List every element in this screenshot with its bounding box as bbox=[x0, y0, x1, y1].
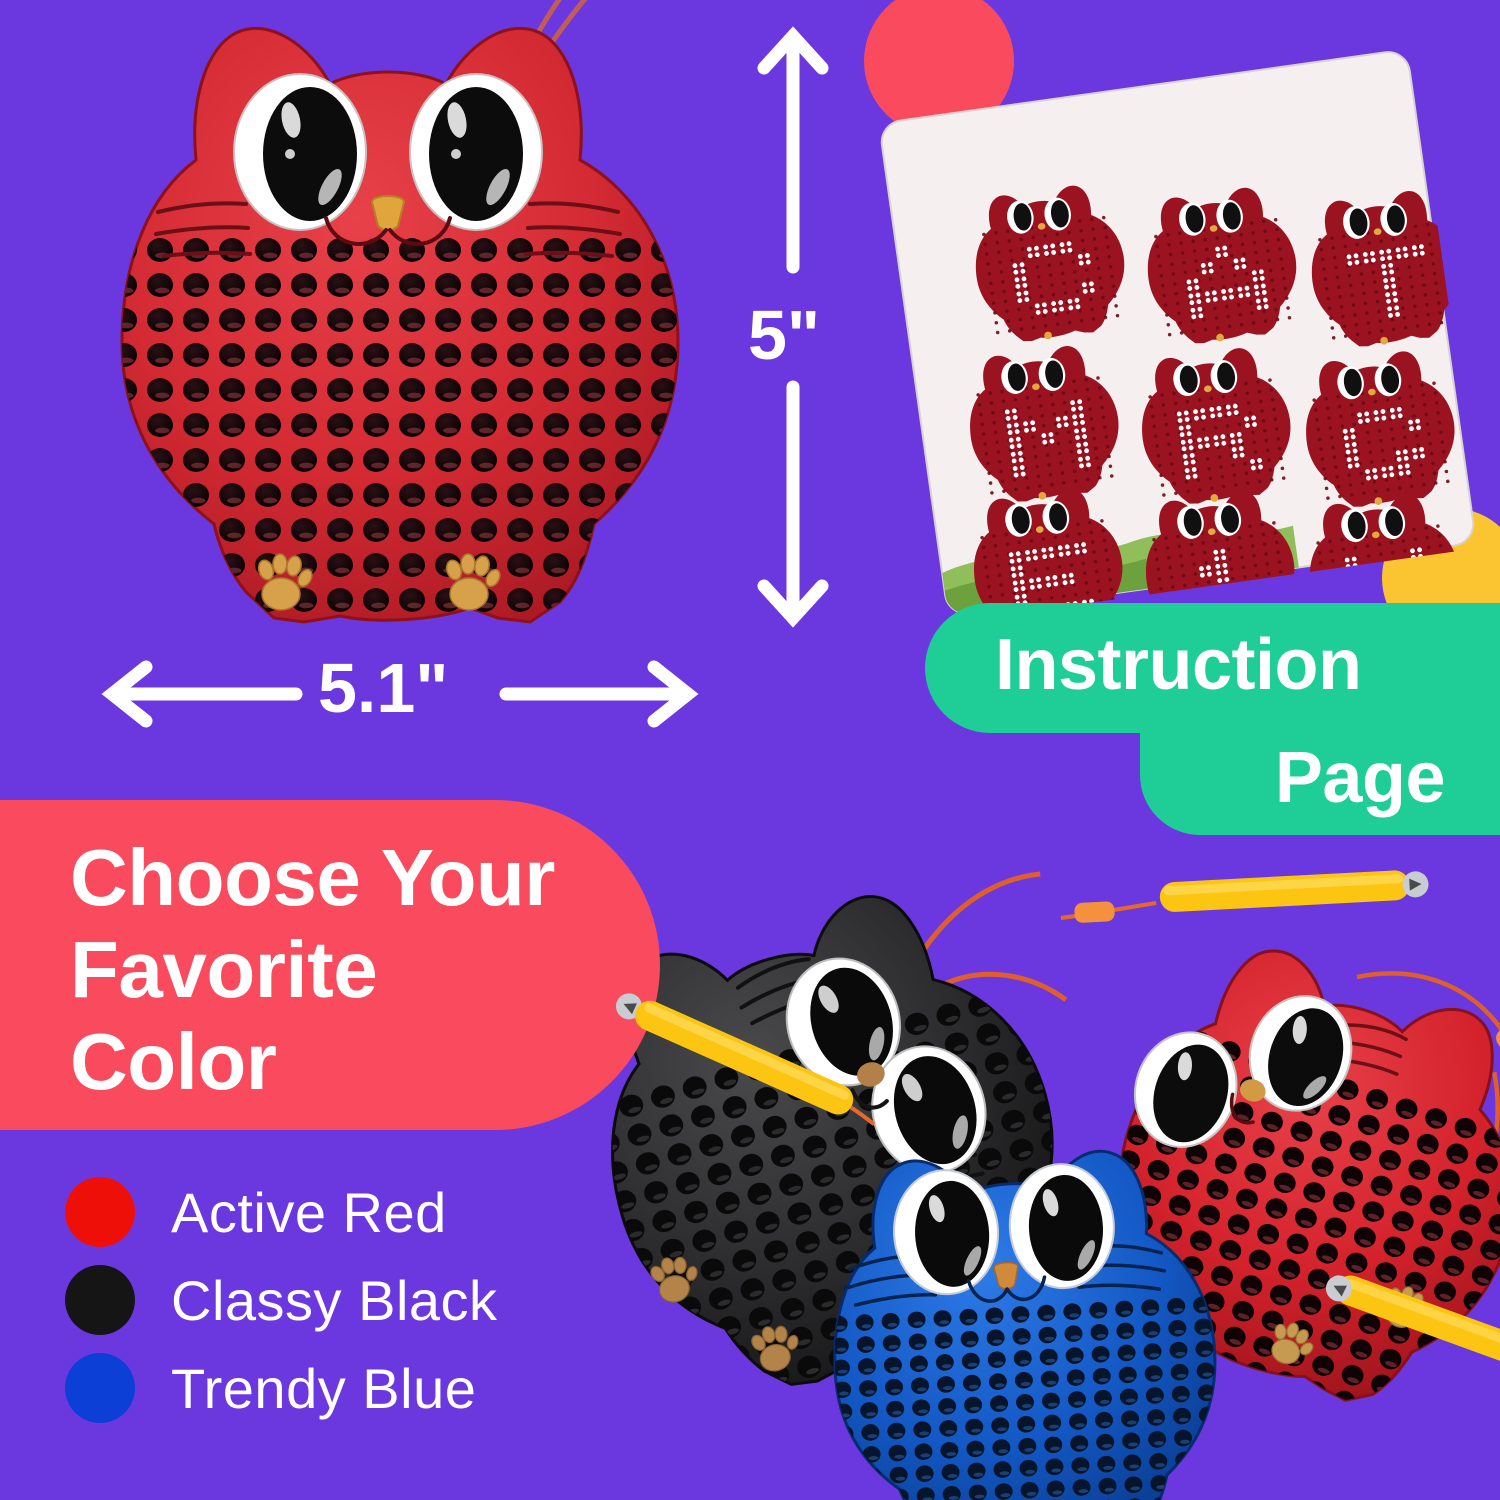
peg-hole bbox=[579, 343, 605, 367]
peg-hole bbox=[183, 413, 209, 437]
peg-hole bbox=[399, 518, 425, 542]
choose-color-line3: Color bbox=[70, 1016, 555, 1108]
figure-texture-dot bbox=[1371, 583, 1375, 587]
peg-hole bbox=[579, 623, 605, 647]
peg-hole-highlight bbox=[659, 603, 673, 609]
peg-hole bbox=[435, 518, 461, 542]
figure-texture-dot bbox=[1282, 590, 1286, 594]
peg-hole bbox=[579, 413, 605, 437]
peg-hole bbox=[255, 238, 281, 262]
peg-hole-highlight bbox=[227, 463, 241, 469]
peg-hole-highlight bbox=[1182, 1483, 1192, 1487]
peg-hole bbox=[507, 413, 533, 437]
peg-hole-highlight bbox=[155, 393, 169, 399]
peg-hole-highlight bbox=[623, 638, 637, 644]
peg-hole-highlight bbox=[515, 603, 529, 609]
peg-hole bbox=[399, 553, 425, 577]
peg-hole bbox=[399, 343, 425, 367]
peg-hole-highlight bbox=[623, 428, 637, 434]
peg-hole-highlight bbox=[263, 358, 277, 364]
peg-hole-highlight bbox=[227, 393, 241, 399]
peg-hole-highlight bbox=[1220, 1363, 1233, 1371]
figure-texture-dot bbox=[1270, 591, 1274, 595]
peg-hole-highlight bbox=[1338, 1402, 1351, 1410]
peg-hole bbox=[615, 413, 641, 437]
peg-hole-highlight bbox=[299, 253, 313, 259]
peg-hole bbox=[579, 308, 605, 332]
peg-hole bbox=[147, 238, 173, 262]
peg-hole-highlight bbox=[587, 358, 601, 364]
peg-hole bbox=[471, 308, 497, 332]
figure-texture-dot bbox=[1323, 590, 1327, 594]
peg-hole bbox=[1390, 1407, 1417, 1433]
peg-hole bbox=[291, 483, 317, 507]
peg-hole bbox=[683, 1322, 712, 1350]
peg-hole bbox=[837, 1469, 856, 1486]
peg-hole-highlight bbox=[515, 288, 529, 294]
peg-hole bbox=[399, 308, 425, 332]
figure-texture-dot bbox=[1445, 270, 1449, 274]
peg-hole-highlight bbox=[551, 358, 565, 364]
swatch-active-red bbox=[65, 1177, 135, 1247]
figure-texture-dot bbox=[1208, 590, 1212, 594]
peg-hole bbox=[471, 483, 497, 507]
figure-texture-dot bbox=[1232, 587, 1236, 591]
peg-hole bbox=[363, 623, 389, 647]
peg-hole bbox=[1428, 1391, 1455, 1417]
peg-hole-highlight bbox=[155, 498, 169, 504]
peg-hole bbox=[1177, 1495, 1196, 1500]
peg-hole-highlight bbox=[587, 568, 601, 574]
peg-hole-highlight bbox=[479, 288, 493, 294]
peg-hole-highlight bbox=[335, 253, 349, 259]
peg-hole bbox=[579, 273, 605, 297]
figure-texture-dot bbox=[1322, 580, 1326, 584]
peg-hole bbox=[327, 378, 353, 402]
peg-hole-highlight bbox=[191, 603, 205, 609]
peg-hole bbox=[836, 1447, 855, 1464]
peg-hole bbox=[471, 413, 497, 437]
peg-hole-highlight bbox=[299, 428, 313, 434]
peg-hole-highlight bbox=[299, 288, 313, 294]
peg-hole-highlight bbox=[443, 323, 457, 329]
peg-hole bbox=[111, 238, 137, 262]
figure-texture-dot bbox=[1160, 597, 1164, 601]
swatch-classy-black bbox=[65, 1265, 135, 1335]
peg-hole-highlight bbox=[335, 393, 349, 399]
peg-hole-highlight bbox=[719, 1423, 733, 1432]
peg-hole bbox=[651, 343, 677, 367]
instruction-page-card bbox=[872, 43, 1483, 624]
lacing-needle-top bbox=[1059, 858, 1442, 938]
peg-hole-highlight bbox=[299, 463, 313, 469]
choose-color-badge: Choose Your Favorite Color bbox=[0, 800, 660, 1130]
instruction-badge-line2: Page bbox=[925, 722, 1465, 835]
peg-hole bbox=[579, 378, 605, 402]
peg-hole-highlight bbox=[263, 393, 277, 399]
peg-hole-highlight bbox=[155, 568, 169, 574]
peg-hole-highlight bbox=[659, 463, 673, 469]
figure-texture-dot bbox=[1336, 598, 1340, 602]
peg-hole-highlight bbox=[515, 638, 529, 644]
peg-hole-highlight bbox=[710, 1394, 724, 1403]
peg-hole-highlight bbox=[407, 638, 421, 644]
peg-hole bbox=[507, 483, 533, 507]
peg-hole bbox=[183, 623, 209, 647]
peg-hole-highlight bbox=[515, 358, 529, 364]
peg-hole bbox=[435, 413, 461, 437]
cord-aglet bbox=[1074, 901, 1115, 923]
figure-pattern-dot bbox=[1226, 591, 1231, 596]
peg-hole-highlight bbox=[479, 498, 493, 504]
peg-hole-highlight bbox=[659, 393, 673, 399]
peg-hole bbox=[327, 308, 353, 332]
peg-hole-highlight bbox=[407, 323, 421, 329]
peg-hole bbox=[1200, 1428, 1219, 1445]
peg-hole bbox=[838, 1491, 857, 1500]
legend-row-classy-black[interactable]: Classy Black bbox=[65, 1256, 625, 1344]
figure-texture-dot bbox=[1344, 567, 1348, 571]
peg-hole-highlight bbox=[335, 533, 349, 539]
peg-hole bbox=[507, 238, 533, 262]
peg-hole bbox=[435, 273, 461, 297]
peg-hole-highlight bbox=[371, 358, 385, 364]
peg-hole bbox=[291, 238, 317, 262]
peg-hole-highlight bbox=[191, 288, 205, 294]
peg-hole bbox=[651, 553, 677, 577]
peg-hole bbox=[615, 483, 641, 507]
peg-hole-highlight bbox=[1207, 1460, 1217, 1464]
peg-hole-highlight bbox=[443, 393, 457, 399]
peg-hole bbox=[255, 518, 281, 542]
peg-hole-highlight bbox=[335, 428, 349, 434]
peg-hole-highlight bbox=[659, 323, 673, 329]
choose-color-line1: Choose Your bbox=[70, 832, 555, 924]
peg-hole-highlight bbox=[227, 498, 241, 504]
peg-hole-highlight bbox=[479, 638, 493, 644]
peg-hole bbox=[147, 518, 173, 542]
figure-texture-dot bbox=[1348, 596, 1352, 600]
peg-hole bbox=[659, 1360, 688, 1388]
peg-hole-highlight bbox=[623, 358, 637, 364]
peg-hole-highlight bbox=[155, 533, 169, 539]
peg-hole bbox=[651, 308, 677, 332]
peg-hole bbox=[363, 413, 389, 437]
peg-hole-highlight bbox=[1397, 1421, 1410, 1429]
peg-hole-highlight bbox=[551, 428, 565, 434]
peg-hole-highlight bbox=[659, 498, 673, 504]
peg-hole-highlight bbox=[371, 568, 385, 574]
figure-texture-dot bbox=[1234, 596, 1238, 600]
peg-hole-highlight bbox=[515, 323, 529, 329]
peg-hole bbox=[255, 343, 281, 367]
height-dimension-arrow bbox=[738, 22, 848, 632]
peg-hole-highlight bbox=[371, 533, 385, 539]
peg-hole bbox=[399, 413, 425, 437]
peg-hole bbox=[731, 1371, 760, 1399]
peg-hole-highlight bbox=[299, 393, 313, 399]
peg-hole bbox=[147, 343, 173, 367]
peg-hole-highlight bbox=[191, 533, 205, 539]
peg-hole-highlight bbox=[155, 638, 169, 644]
peg-hole-highlight bbox=[227, 638, 241, 644]
peg-hole-highlight bbox=[679, 1403, 693, 1412]
peg-hole bbox=[291, 343, 317, 367]
peg-hole-highlight bbox=[1008, 996, 1022, 1005]
color-legend: Active Red Classy Black Trendy Blue bbox=[65, 1168, 625, 1432]
peg-hole-highlight bbox=[335, 603, 349, 609]
peg-hole bbox=[579, 238, 605, 262]
peg-hole bbox=[147, 413, 173, 437]
peg-hole bbox=[219, 273, 245, 297]
peg-hole bbox=[111, 623, 137, 647]
peg-hole bbox=[543, 448, 569, 472]
peg-hole bbox=[363, 448, 389, 472]
legend-row-active-red[interactable]: Active Red bbox=[65, 1168, 625, 1256]
peg-hole bbox=[585, 1101, 614, 1129]
peg-hole bbox=[435, 623, 461, 647]
peg-hole bbox=[1201, 1450, 1220, 1467]
peg-hole-highlight bbox=[371, 428, 385, 434]
peg-hole bbox=[111, 483, 137, 507]
peg-hole-highlight bbox=[479, 393, 493, 399]
peg-hole-highlight bbox=[335, 358, 349, 364]
peg-hole-highlight bbox=[371, 638, 385, 644]
peg-hole-highlight bbox=[587, 498, 601, 504]
peg-hole bbox=[997, 983, 1026, 1011]
peg-hole-highlight bbox=[1181, 1461, 1191, 1465]
figure-texture-dot bbox=[1441, 241, 1445, 245]
figure-pattern-dot bbox=[1374, 596, 1379, 601]
peg-hole-highlight bbox=[119, 533, 133, 539]
peg-hole bbox=[255, 273, 281, 297]
peg-hole bbox=[1360, 1397, 1387, 1423]
peg-hole bbox=[147, 483, 173, 507]
figure-texture-dot bbox=[1172, 595, 1176, 599]
peg-hole-highlight bbox=[299, 323, 313, 329]
figure-pattern-dot bbox=[1363, 569, 1368, 574]
figure-texture-dot bbox=[1359, 585, 1363, 589]
figure-texture-dot bbox=[1443, 260, 1447, 264]
legend-label-trendy-blue: Trendy Blue bbox=[171, 1356, 476, 1421]
peg-hole bbox=[643, 1303, 672, 1331]
peg-hole bbox=[255, 448, 281, 472]
swatch-trendy-blue bbox=[65, 1353, 135, 1423]
figure-pattern-dot bbox=[1370, 568, 1375, 573]
peg-hole bbox=[543, 588, 569, 612]
peg-hole bbox=[183, 518, 209, 542]
figure-texture-dot bbox=[1334, 579, 1338, 583]
peg-hole bbox=[363, 273, 389, 297]
peg-hole bbox=[691, 1351, 720, 1379]
peg-hole-highlight bbox=[227, 428, 241, 434]
peg-hole bbox=[615, 378, 641, 402]
peg-hole bbox=[147, 553, 173, 577]
peg-hole bbox=[615, 238, 641, 262]
peg-hole-highlight bbox=[551, 323, 565, 329]
peg-hole bbox=[471, 273, 497, 297]
peg-hole-highlight bbox=[587, 638, 601, 644]
peg-hole bbox=[615, 588, 641, 612]
peg-hole-highlight bbox=[623, 253, 637, 259]
peg-hole-highlight bbox=[443, 498, 457, 504]
peg-hole bbox=[507, 273, 533, 297]
peg-hole-highlight bbox=[335, 498, 349, 504]
peg-hole bbox=[615, 553, 641, 577]
peg-hole bbox=[399, 448, 425, 472]
eye-left bbox=[234, 74, 366, 230]
peg-hole bbox=[399, 378, 425, 402]
peg-hole-highlight bbox=[191, 358, 205, 364]
peg-hole-highlight bbox=[407, 428, 421, 434]
peg-hole-highlight bbox=[623, 323, 637, 329]
figure-texture-dot bbox=[1368, 564, 1372, 568]
peg-hole-highlight bbox=[191, 568, 205, 574]
peg-hole-highlight bbox=[1414, 1370, 1427, 1378]
peg-hole bbox=[363, 378, 389, 402]
peg-hole-highlight bbox=[869, 1478, 879, 1482]
needle-cord bbox=[849, 1107, 877, 1124]
peg-hole-highlight bbox=[155, 428, 169, 434]
peg-hole bbox=[327, 588, 353, 612]
peg-hole-highlight bbox=[551, 638, 565, 644]
legend-row-trendy-blue[interactable]: Trendy Blue bbox=[65, 1344, 625, 1432]
choose-color-line2: Favorite bbox=[70, 924, 555, 1016]
figure-texture-dot bbox=[1372, 593, 1376, 597]
peg-hole-highlight bbox=[750, 1414, 764, 1423]
product-feature-graphic: 5" 5.1" Instruction bbox=[0, 0, 1500, 1500]
peg-hole bbox=[651, 483, 677, 507]
peg-hole bbox=[291, 308, 317, 332]
peg-hole-highlight bbox=[551, 568, 565, 574]
peg-hole-highlight bbox=[1309, 1392, 1322, 1400]
peg-hole-highlight bbox=[623, 288, 637, 294]
peg-hole-highlight bbox=[841, 1435, 851, 1439]
peg-hole bbox=[183, 378, 209, 402]
peg-hole bbox=[363, 588, 389, 612]
peg-hole bbox=[291, 518, 317, 542]
peg-hole-highlight bbox=[842, 1457, 852, 1461]
peg-hole-highlight bbox=[371, 603, 385, 609]
figure-texture-dot bbox=[1442, 250, 1446, 254]
peg-hole-highlight bbox=[734, 1356, 748, 1365]
peg-hole bbox=[543, 238, 569, 262]
peg-hole-highlight bbox=[515, 498, 529, 504]
figure-texture-dot bbox=[1449, 299, 1453, 303]
peg-hole-highlight bbox=[407, 393, 421, 399]
peg-hole-highlight bbox=[263, 323, 277, 329]
peg-hole-highlight bbox=[1427, 1430, 1440, 1438]
figure-texture-dot bbox=[1452, 319, 1456, 323]
peg-hole-highlight bbox=[263, 463, 277, 469]
peg-hole-highlight bbox=[407, 463, 421, 469]
instruction-figure-grid bbox=[922, 134, 1483, 624]
peg-hole-highlight bbox=[407, 533, 421, 539]
peg-hole bbox=[399, 623, 425, 647]
figure-texture-dot bbox=[1450, 309, 1454, 313]
peg-hole-highlight bbox=[623, 533, 637, 539]
peg-hole-highlight bbox=[515, 533, 529, 539]
peg-hole-highlight bbox=[551, 288, 565, 294]
figure-texture-dot bbox=[1196, 592, 1200, 596]
peg-hole-highlight bbox=[551, 533, 565, 539]
peg-hole-highlight bbox=[662, 1345, 676, 1354]
peg-hole bbox=[219, 343, 245, 367]
peg-hole-highlight bbox=[263, 498, 277, 504]
peg-hole bbox=[219, 308, 245, 332]
figure-texture-dot bbox=[1280, 580, 1284, 584]
peg-hole-highlight bbox=[443, 253, 457, 259]
peg-hole-highlight bbox=[551, 463, 565, 469]
peg-hole-highlight bbox=[659, 638, 673, 644]
peg-hole bbox=[543, 483, 569, 507]
peg-hole-highlight bbox=[587, 603, 601, 609]
peg-hole bbox=[327, 448, 353, 472]
peg-hole bbox=[543, 308, 569, 332]
peg-hole-highlight bbox=[263, 253, 277, 259]
peg-hole bbox=[651, 518, 677, 542]
instruction-badge-line1: Instruction bbox=[925, 609, 1465, 722]
peg-hole bbox=[1176, 1473, 1195, 1490]
peg-hole-highlight bbox=[155, 288, 169, 294]
peg-hole bbox=[471, 238, 497, 262]
peg-hole-highlight bbox=[587, 288, 601, 294]
peg-hole-highlight bbox=[407, 288, 421, 294]
peg-hole bbox=[651, 1332, 680, 1360]
peg-hole bbox=[543, 378, 569, 402]
peg-hole bbox=[147, 378, 173, 402]
figure-texture-dot bbox=[1346, 577, 1350, 581]
peg-hole bbox=[111, 308, 137, 332]
peg-hole bbox=[543, 273, 569, 297]
peg-hole bbox=[676, 1418, 705, 1446]
peg-hole-highlight bbox=[299, 358, 313, 364]
peg-hole-highlight bbox=[227, 288, 241, 294]
peg-hole-highlight bbox=[479, 323, 493, 329]
peg-hole bbox=[219, 483, 245, 507]
peg-hole-highlight bbox=[694, 1336, 708, 1345]
peg-hole-highlight bbox=[299, 638, 313, 644]
peg-hole-highlight bbox=[1017, 1025, 1031, 1034]
figure-texture-dot bbox=[1356, 565, 1360, 569]
figure-texture-dot bbox=[1370, 573, 1374, 577]
figure-texture-dot bbox=[1244, 585, 1248, 589]
peg-hole-highlight bbox=[659, 533, 673, 539]
peg-hole bbox=[471, 378, 497, 402]
peg-hole-highlight bbox=[191, 393, 205, 399]
legend-label-classy-black: Classy Black bbox=[171, 1268, 498, 1333]
peg-hole bbox=[435, 343, 461, 367]
peg-hole bbox=[327, 273, 353, 297]
peg-hole bbox=[507, 623, 533, 647]
peg-hole-highlight bbox=[515, 463, 529, 469]
peg-hole bbox=[111, 448, 137, 472]
peg-hole-highlight bbox=[587, 323, 601, 329]
peg-hole-highlight bbox=[227, 533, 241, 539]
peg-hole bbox=[183, 343, 209, 367]
peg-hole bbox=[771, 1391, 800, 1419]
peg-hole-highlight bbox=[623, 603, 637, 609]
peg-hole bbox=[651, 448, 677, 472]
peg-hole bbox=[399, 483, 425, 507]
peg-hole-highlight bbox=[119, 498, 133, 504]
peg-hole bbox=[219, 378, 245, 402]
peg-hole bbox=[111, 518, 137, 542]
peg-hole bbox=[471, 518, 497, 542]
figure-texture-dot bbox=[1184, 593, 1188, 597]
peg-hole bbox=[111, 588, 137, 612]
peg-hole bbox=[1398, 1381, 1425, 1407]
